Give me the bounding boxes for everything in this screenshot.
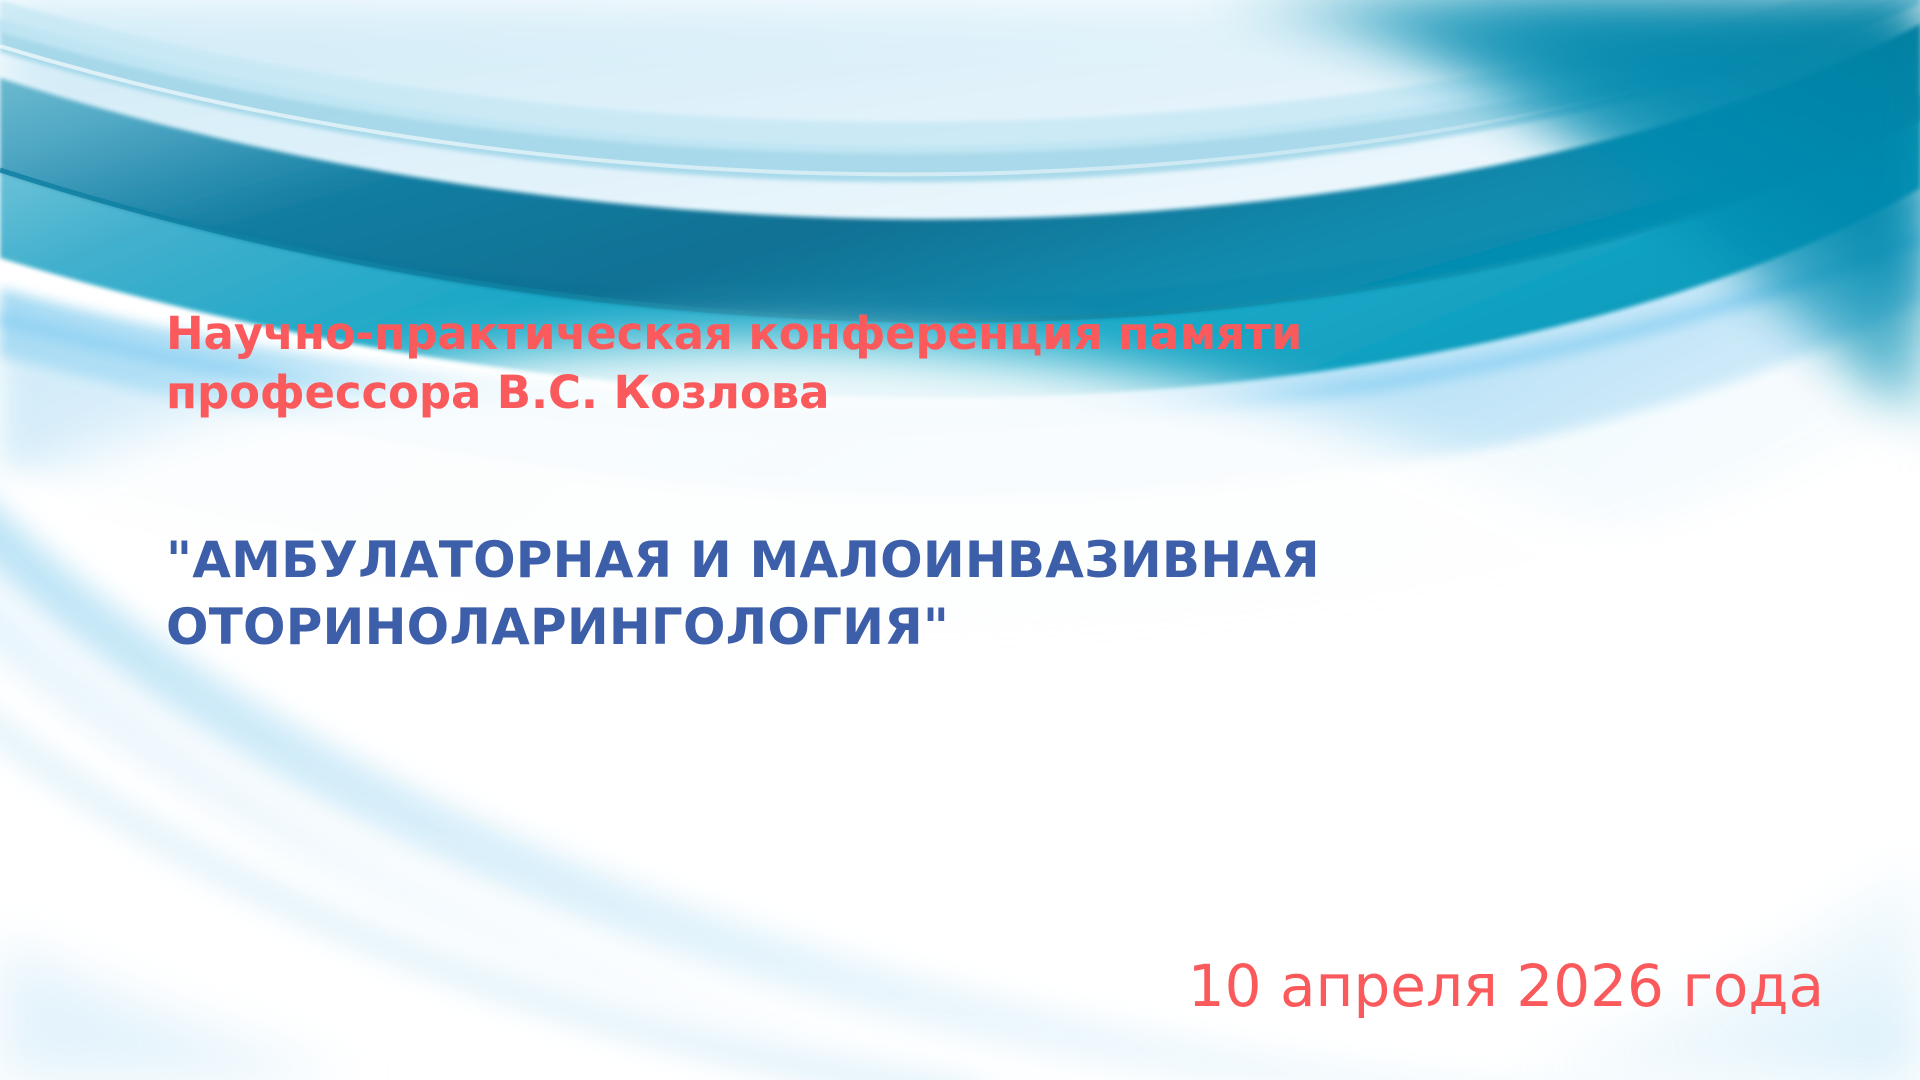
title-line-1: "АМБУЛАТОРНАЯ И МАЛОИНВАЗИВНАЯ: [166, 527, 1666, 594]
slide-content: Научно-практическая конференция памяти п…: [0, 0, 1920, 1080]
presentation-slide: Научно-практическая конференция памяти п…: [0, 0, 1920, 1080]
page-title: "АМБУЛАТОРНАЯ И МАЛОИНВАЗИВНАЯ ОТОРИНОЛА…: [166, 527, 1666, 660]
title-line-2: ОТОРИНОЛАРИНГОЛОГИЯ": [166, 594, 1666, 661]
subtitle-line-2: профессора В.С. Козлова: [166, 364, 1626, 423]
subtitle-line-1: Научно-практическая конференция памяти: [166, 305, 1626, 364]
conference-subtitle: Научно-практическая конференция памяти п…: [166, 305, 1626, 422]
event-date-text: 10 апреля 2026 года: [1188, 955, 1824, 1019]
event-date: 10 апреля 2026 года: [1188, 955, 1824, 1019]
